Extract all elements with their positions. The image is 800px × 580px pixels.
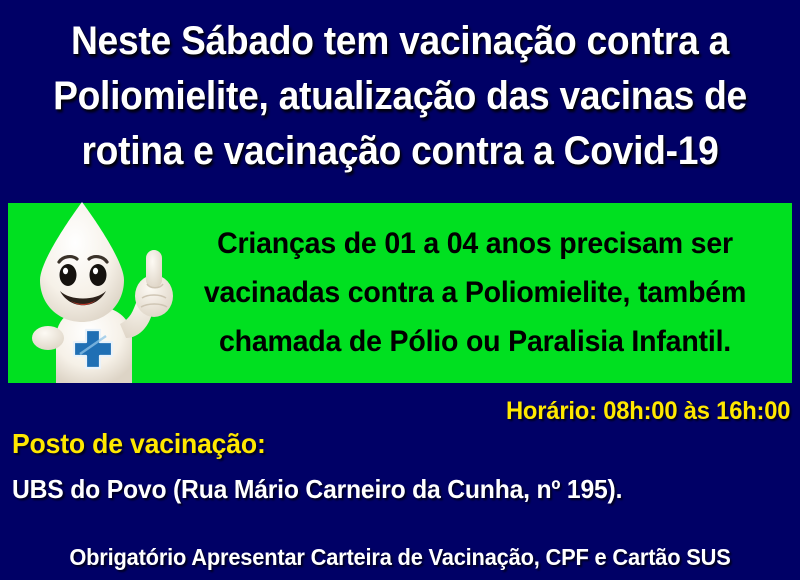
green-banner-text: Crianças de 01 a 04 anos precisam ser va… <box>174 219 776 366</box>
headline-line-2: Poliomielite, atualização das vacinas de <box>28 69 772 124</box>
requirements-line-1: Obrigatório Apresentar Carteira de Vacin… <box>20 542 780 572</box>
banner-line-1: Crianças de 01 a 04 anos precisam ser <box>174 219 776 268</box>
poster-headline: Neste Sábado tem vacinação contra a Poli… <box>28 14 772 179</box>
requirements-text: Obrigatório Apresentar Carteira de Vacin… <box>20 542 780 572</box>
headline-line-3: rotina e vacinação contra a Covid-19 <box>28 124 772 179</box>
mascot-eye-left <box>60 264 77 286</box>
green-highlight-banner: Crianças de 01 a 04 anos precisam ser va… <box>8 203 792 383</box>
mascot-eye-right <box>90 264 107 286</box>
headline-line-1: Neste Sábado tem vacinação contra a <box>28 14 772 69</box>
mascot-left-arm <box>32 326 64 350</box>
schedule-text: Horário: 08h:00 às 16h:00 <box>506 396 790 426</box>
banner-line-3: chamada de Pólio ou Paralisia Infantil. <box>174 317 776 366</box>
mascot-index-finger <box>146 250 162 288</box>
vaccination-post-label: Posto de vacinação: <box>12 427 266 461</box>
vaccination-campaign-poster: Neste Sábado tem vacinação contra a Poli… <box>0 0 800 580</box>
banner-line-2: vacinadas contra a Poliomielite, também <box>174 268 776 317</box>
vaccination-post-address: UBS do Povo (Rua Mário Carneiro da Cunha… <box>12 473 622 505</box>
ze-gotinha-mascot <box>14 188 194 383</box>
